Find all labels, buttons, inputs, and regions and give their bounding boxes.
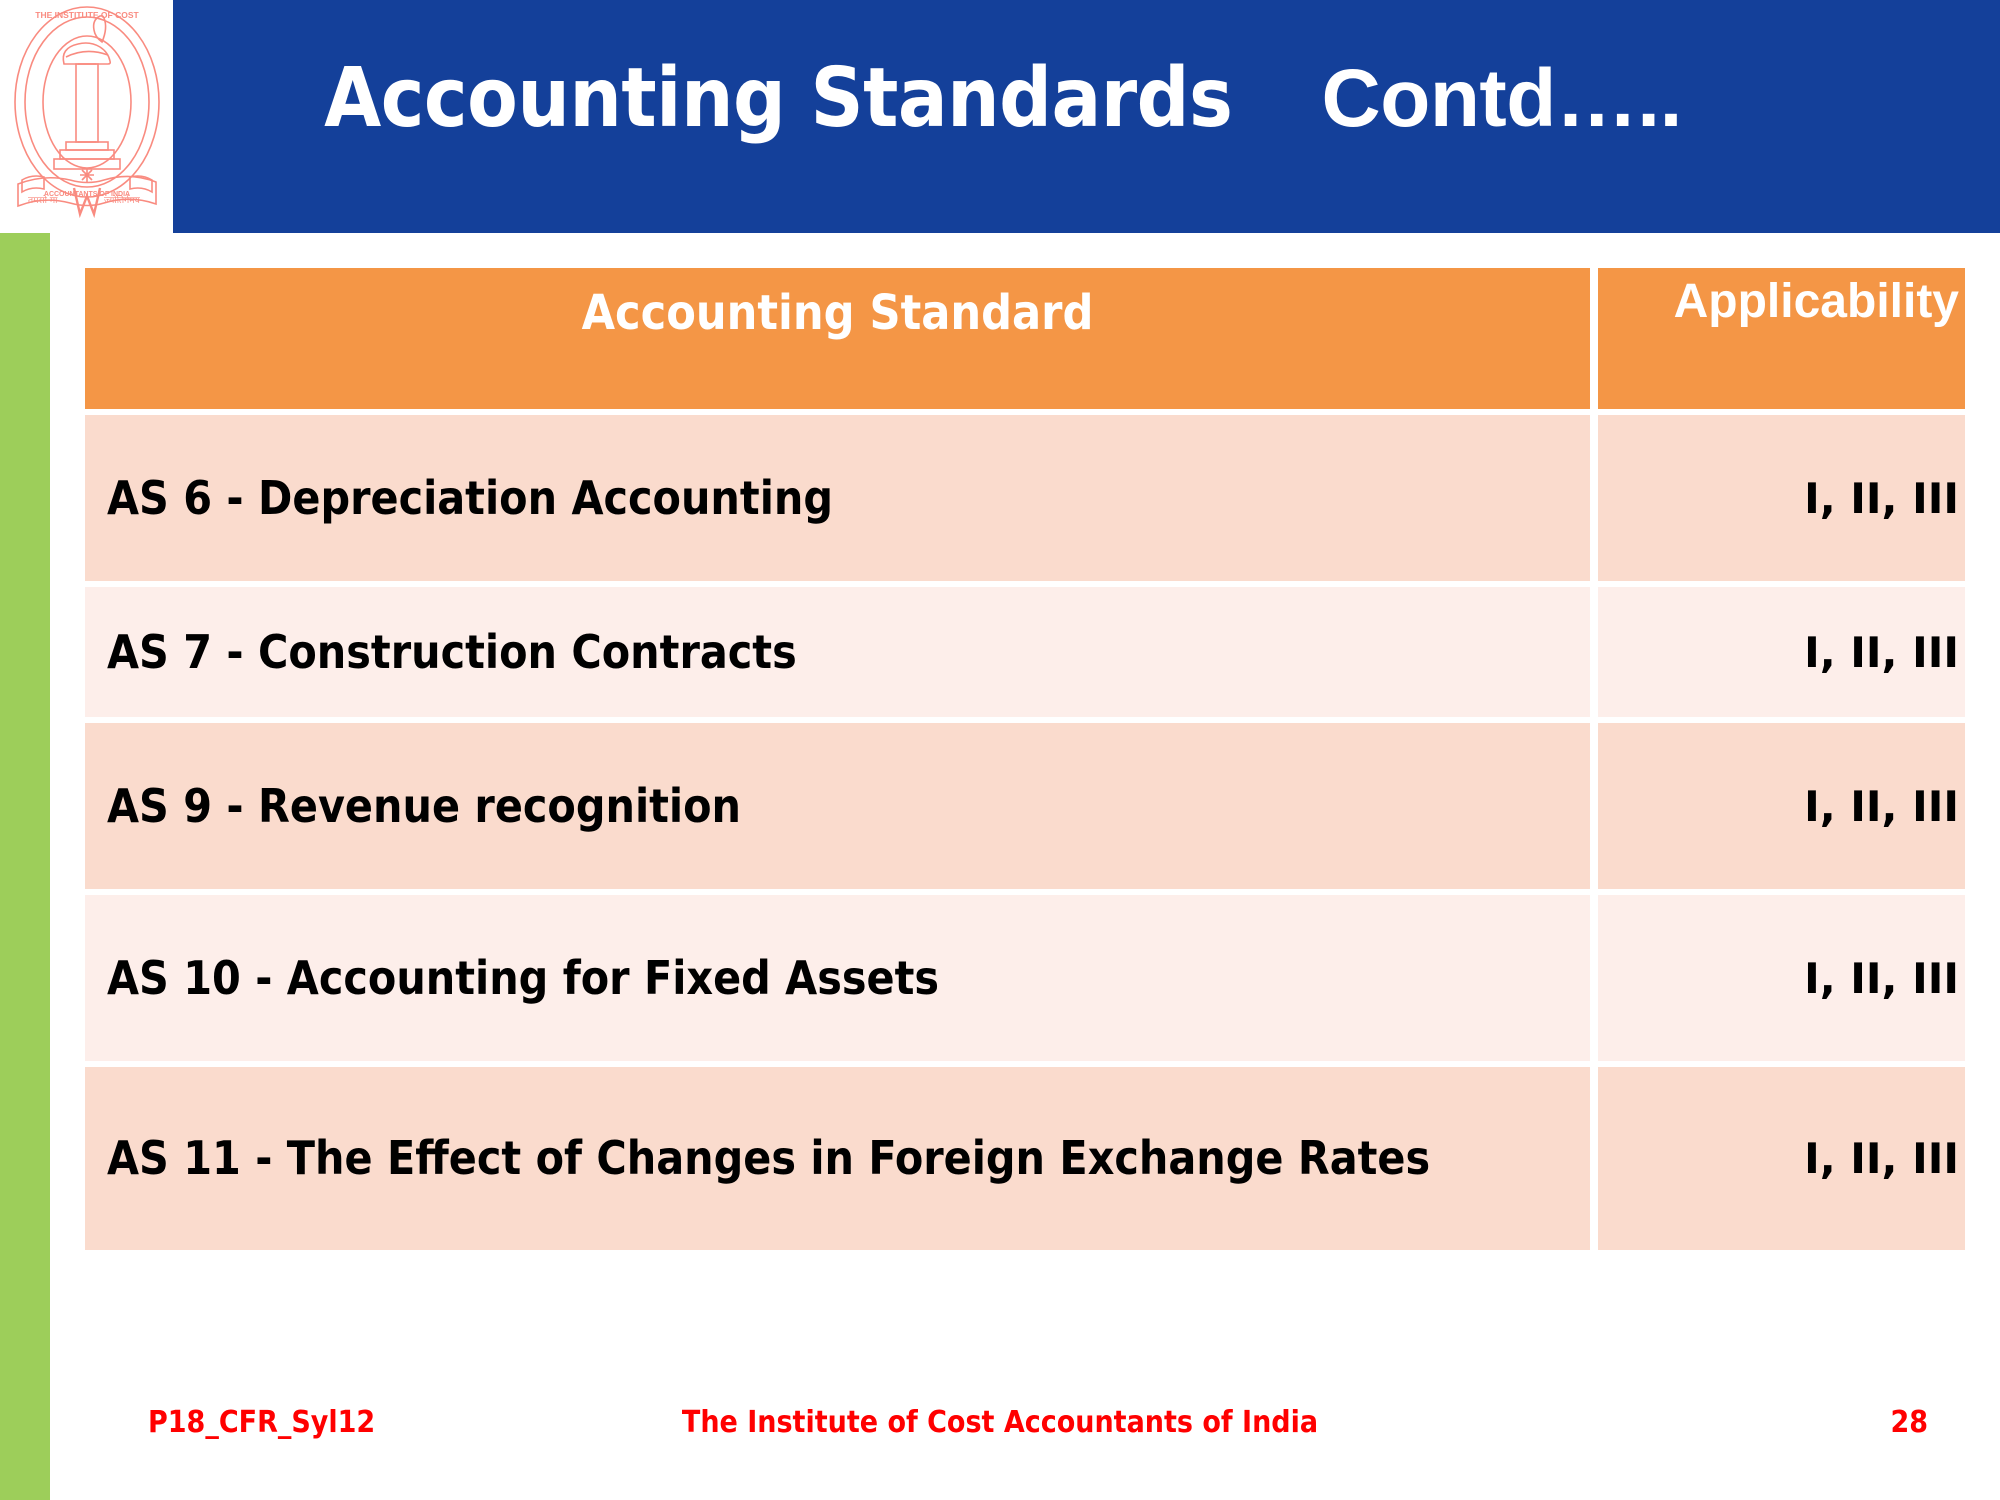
column-header-applicability: Applicability <box>1598 268 1965 415</box>
accounting-standards-table: Accounting Standard Applicability AS 6 -… <box>85 268 1965 1250</box>
table-row: AS 11 - The Effect of Changes in Foreign… <box>85 1067 1965 1250</box>
table-row: AS 6 - Depreciation Accounting I, II, II… <box>85 415 1965 587</box>
page-title: Accounting Standards Contd….. <box>173 58 1833 140</box>
table-row: AS 7 - Construction Contracts I, II, III <box>85 587 1965 723</box>
svg-text:ज्योतिर्गमय: ज्योतिर्गमय <box>104 194 141 206</box>
svg-text:तमसो मा: तमसो मा <box>28 194 58 206</box>
cell-applicability: I, II, III <box>1598 415 1965 587</box>
page-title-gap <box>1232 53 1321 144</box>
cell-standard-name: AS 9 - Revenue recognition <box>85 723 1598 895</box>
page-title-main: Accounting Standards <box>324 51 1232 146</box>
footer-page-number: 28 <box>1890 1405 1928 1440</box>
slide-footer: P18_CFR_Syl12 The Institute of Cost Acco… <box>0 1405 2000 1465</box>
cell-applicability: I, II, III <box>1598 895 1965 1067</box>
cell-standard-name: AS 10 - Accounting for Fixed Assets <box>85 895 1598 1067</box>
institute-logo: THE INSTITUTE OF COST ACCOUNTANTS OF IND… <box>4 2 170 232</box>
left-accent-bar <box>0 233 50 1500</box>
table-row: AS 10 - Accounting for Fixed Assets I, I… <box>85 895 1965 1067</box>
cell-applicability: I, II, III <box>1598 723 1965 895</box>
cell-standard-name: AS 6 - Depreciation Accounting <box>85 415 1598 587</box>
footer-institute-name: The Institute of Cost Accountants of Ind… <box>0 1405 2000 1440</box>
cell-standard-name: AS 7 - Construction Contracts <box>85 587 1598 723</box>
cell-applicability: I, II, III <box>1598 587 1965 723</box>
svg-text:THE INSTITUTE OF COST: THE INSTITUTE OF COST <box>35 10 139 20</box>
cell-applicability: I, II, III <box>1598 1067 1965 1250</box>
column-header-standard: Accounting Standard <box>85 268 1598 415</box>
slide-root: Accounting Standards Contd….. <box>0 0 2000 1500</box>
table-header-row: Accounting Standard Applicability <box>85 268 1965 415</box>
title-bar: Accounting Standards Contd….. <box>173 0 2000 233</box>
cell-standard-name: AS 11 - The Effect of Changes in Foreign… <box>85 1067 1598 1250</box>
page-title-continued: Contd….. <box>1322 53 1682 144</box>
table-row: AS 9 - Revenue recognition I, II, III <box>85 723 1965 895</box>
